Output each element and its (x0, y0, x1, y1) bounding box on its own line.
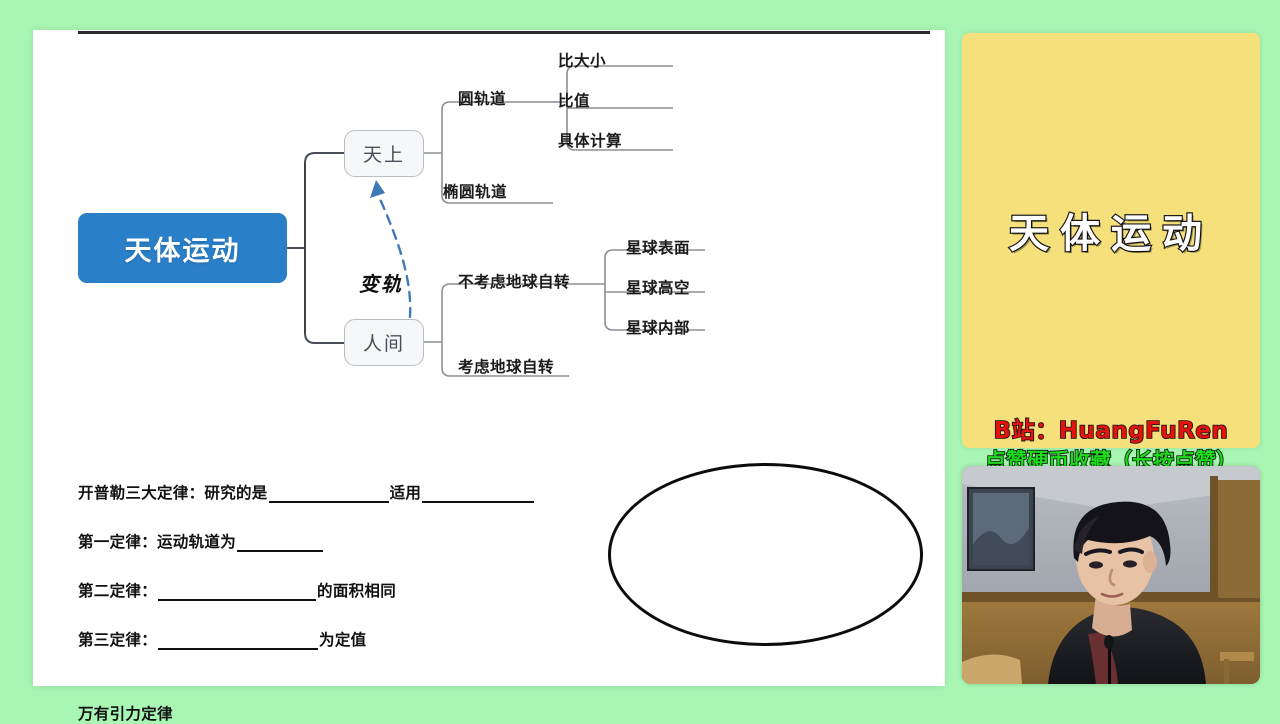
fill-in-blank[interactable] (422, 486, 534, 503)
fill-in-blank[interactable] (269, 486, 389, 503)
mindmap-root-node[interactable]: 天体运动 (78, 213, 287, 283)
fill-in-blank[interactable] (237, 535, 323, 552)
mindmap-leaf-xingqiu-neibu[interactable]: 星球内部 (626, 316, 690, 338)
fill-in-blank[interactable] (158, 633, 318, 650)
mindmap-leaf-xingqiu-biaomian[interactable]: 星球表面 (626, 236, 690, 258)
note-text: 第一定律：运动轨道为 (78, 530, 236, 552)
mindmap-transfer-annotation: 变轨 (359, 268, 403, 297)
mindmap-leaf-xingqiu-gaokong[interactable]: 星球高空 (626, 276, 690, 298)
note-text: 第三定律： (78, 628, 157, 650)
mindmap-leaf-bizhi[interactable]: 比值 (558, 89, 590, 111)
whiteboard-canvas: 天体运动 天上 人间 圆轨道 椭圆轨道 比大小 比值 具体计算 不考虑地球自转 … (33, 30, 945, 686)
note-text: 适用 (390, 481, 422, 503)
note-line-second-law: 第二定律： 的面积相同 (78, 579, 396, 601)
mindmap-leaf-bi-daxiao[interactable]: 比大小 (558, 49, 606, 71)
mindmap-branch-tianshang[interactable]: 天上 (344, 130, 424, 177)
fill-in-blank[interactable] (158, 584, 316, 601)
note-line-kepler-intro: 开普勒三大定律：研究的是 适用 (78, 481, 535, 503)
hand-drawn-ellipse (608, 463, 923, 646)
note-line-third-law: 第三定律： 为定值 (78, 628, 366, 650)
panel-title-text: 天体运动 (962, 201, 1260, 259)
note-text: 开普勒三大定律：研究的是 (78, 481, 268, 503)
note-line-gravitation: 万有引力定律 (78, 702, 173, 724)
title-panel: 天体运动 B站：HuangFuRen 点赞硬币收藏（长按点赞） (962, 33, 1260, 448)
mindmap-label-yuan-guidao[interactable]: 圆轨道 (458, 87, 506, 109)
note-line-first-law: 第一定律：运动轨道为 (78, 530, 324, 552)
mindmap: 天体运动 天上 人间 圆轨道 椭圆轨道 比大小 比值 具体计算 不考虑地球自转 … (33, 30, 945, 430)
mindmap-branch-renjian[interactable]: 人间 (344, 319, 424, 366)
mindmap-leaf-juti-jisuan[interactable]: 具体计算 (558, 129, 622, 151)
presenter-webcam-feed[interactable] (962, 466, 1260, 684)
note-text: 的面积相同 (317, 579, 396, 601)
mindmap-label-tuoyuan-guidao[interactable]: 椭圆轨道 (443, 180, 507, 202)
note-text: 为定值 (319, 628, 366, 650)
bilibili-handle-text: B站：HuangFuRen (962, 411, 1260, 445)
mindmap-label-kaolv-zizhuan[interactable]: 考虑地球自转 (458, 355, 554, 377)
mindmap-label-bukaolv-zizhuan[interactable]: 不考虑地球自转 (458, 270, 570, 292)
webcam-image (962, 466, 1260, 684)
note-text: 第二定律： (78, 579, 157, 601)
